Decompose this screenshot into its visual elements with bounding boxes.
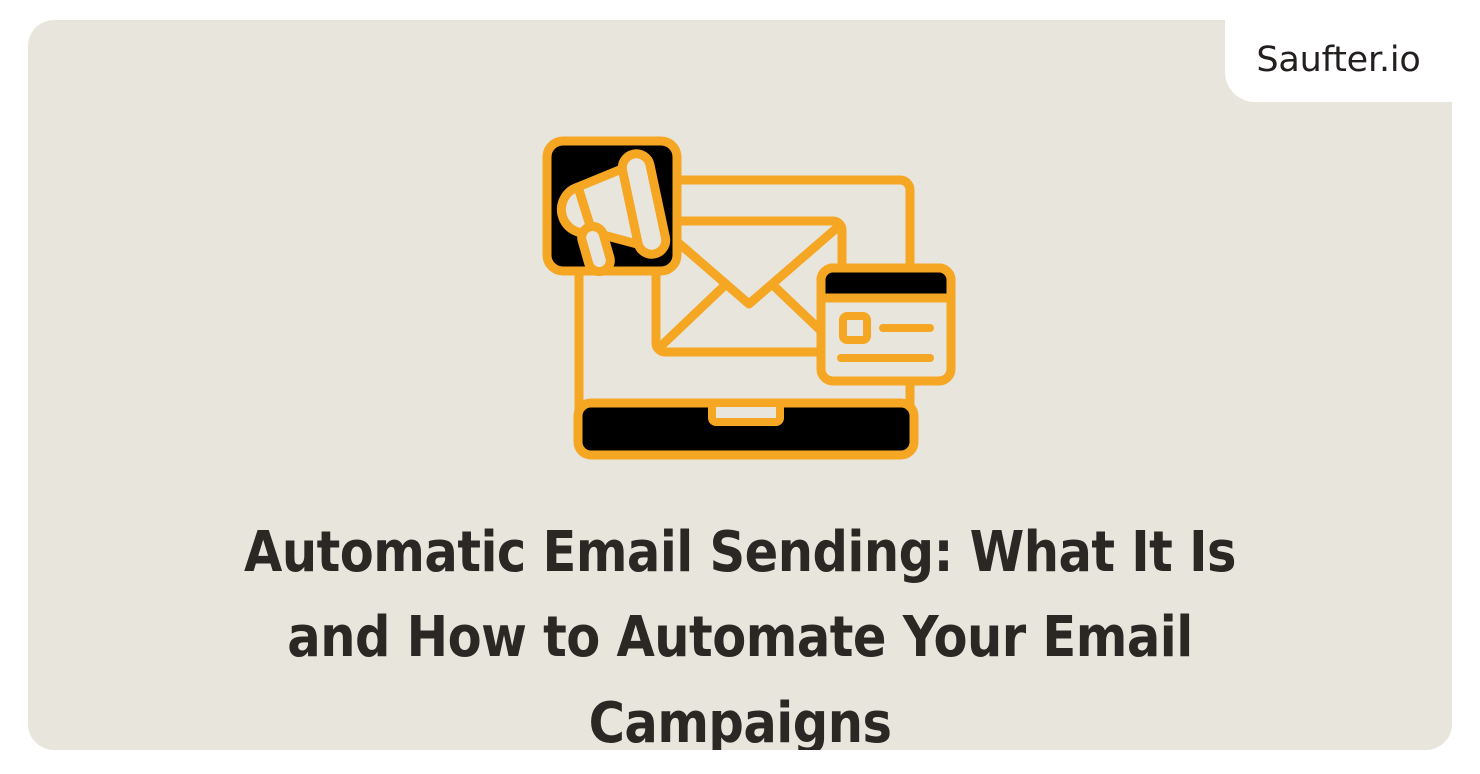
brand-logo-badge[interactable]: Saufter.io [1225, 20, 1452, 102]
hero-card: Saufter.io [28, 20, 1452, 750]
envelope-body [656, 221, 842, 352]
email-automation-illustration [526, 120, 966, 465]
message-card-titlebar [821, 268, 951, 298]
laptop-trackpad-notch [712, 403, 780, 422]
brand-logo-text: Saufter.io [1256, 43, 1420, 80]
page-title: Automatic Email Sending: What It Is and … [243, 510, 1238, 750]
screenshot-stage: Saufter.io [0, 0, 1480, 774]
illustration-svg [526, 120, 966, 465]
